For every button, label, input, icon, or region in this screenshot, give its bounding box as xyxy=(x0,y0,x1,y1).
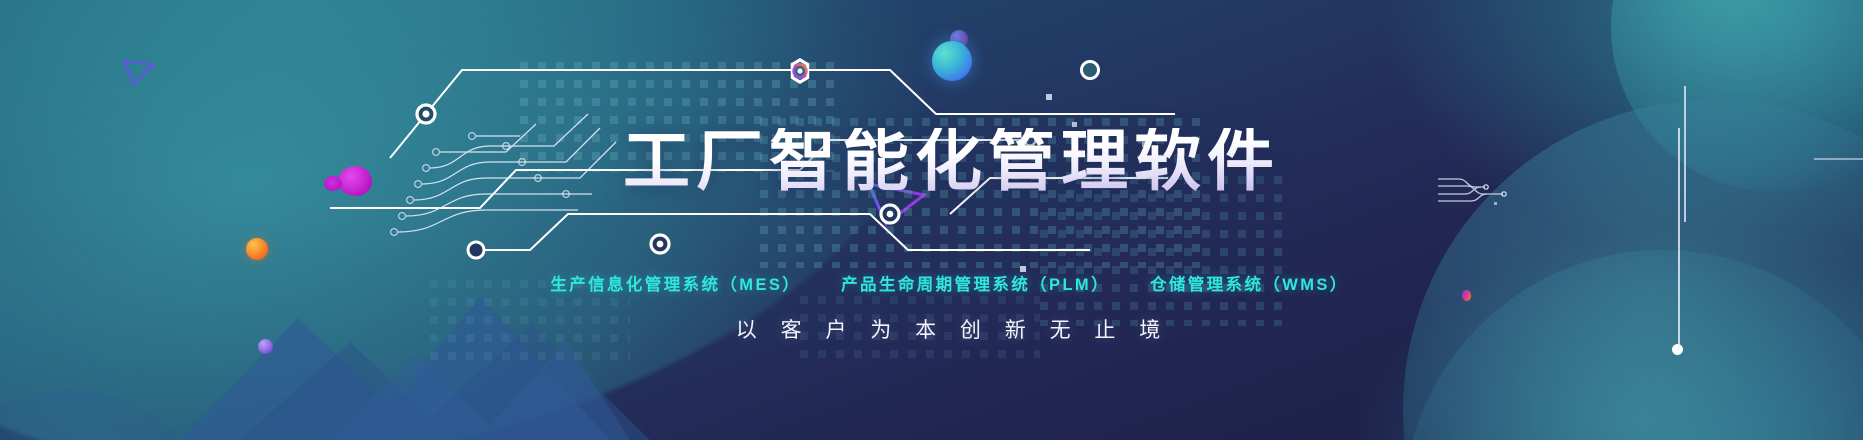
teal-sphere xyxy=(932,41,972,81)
banner-tagline: 以 客 户 为 本 创 新 无 止 境 xyxy=(0,314,1863,344)
subtitle-item-plm: 产品生命周期管理系统（PLM） xyxy=(841,276,1110,294)
banner-headline: 工厂智能化管理软件 xyxy=(0,128,1863,195)
banner-subtitle-list: 生产信息化管理系统（MES） 产品生命周期管理系统（PLM） 仓储管理系统（WM… xyxy=(0,271,1863,295)
dot-matrix-right xyxy=(1040,176,1290,331)
white-dot xyxy=(1672,344,1683,355)
subtitle-item-wms: 仓储管理系统（WMS） xyxy=(1150,276,1349,294)
orange-dot xyxy=(246,238,268,260)
subtitle-item-mes: 生产信息化管理系统（MES） xyxy=(550,276,801,294)
blue-mountain-shape xyxy=(180,280,700,440)
bottom-left-blue-circle xyxy=(0,390,220,440)
background-decoration-layer xyxy=(0,0,1863,440)
teal-wave-shape xyxy=(0,0,967,440)
blue-mountain-shape-secondary xyxy=(330,330,630,440)
purple-triangle-outline xyxy=(122,58,156,91)
factory-software-banner: 工厂智能化管理软件 生产信息化管理系统（MES） 产品生命周期管理系统（PLM）… xyxy=(0,0,1863,440)
purple-sphere xyxy=(950,30,968,48)
hex-node-icon xyxy=(786,57,814,85)
